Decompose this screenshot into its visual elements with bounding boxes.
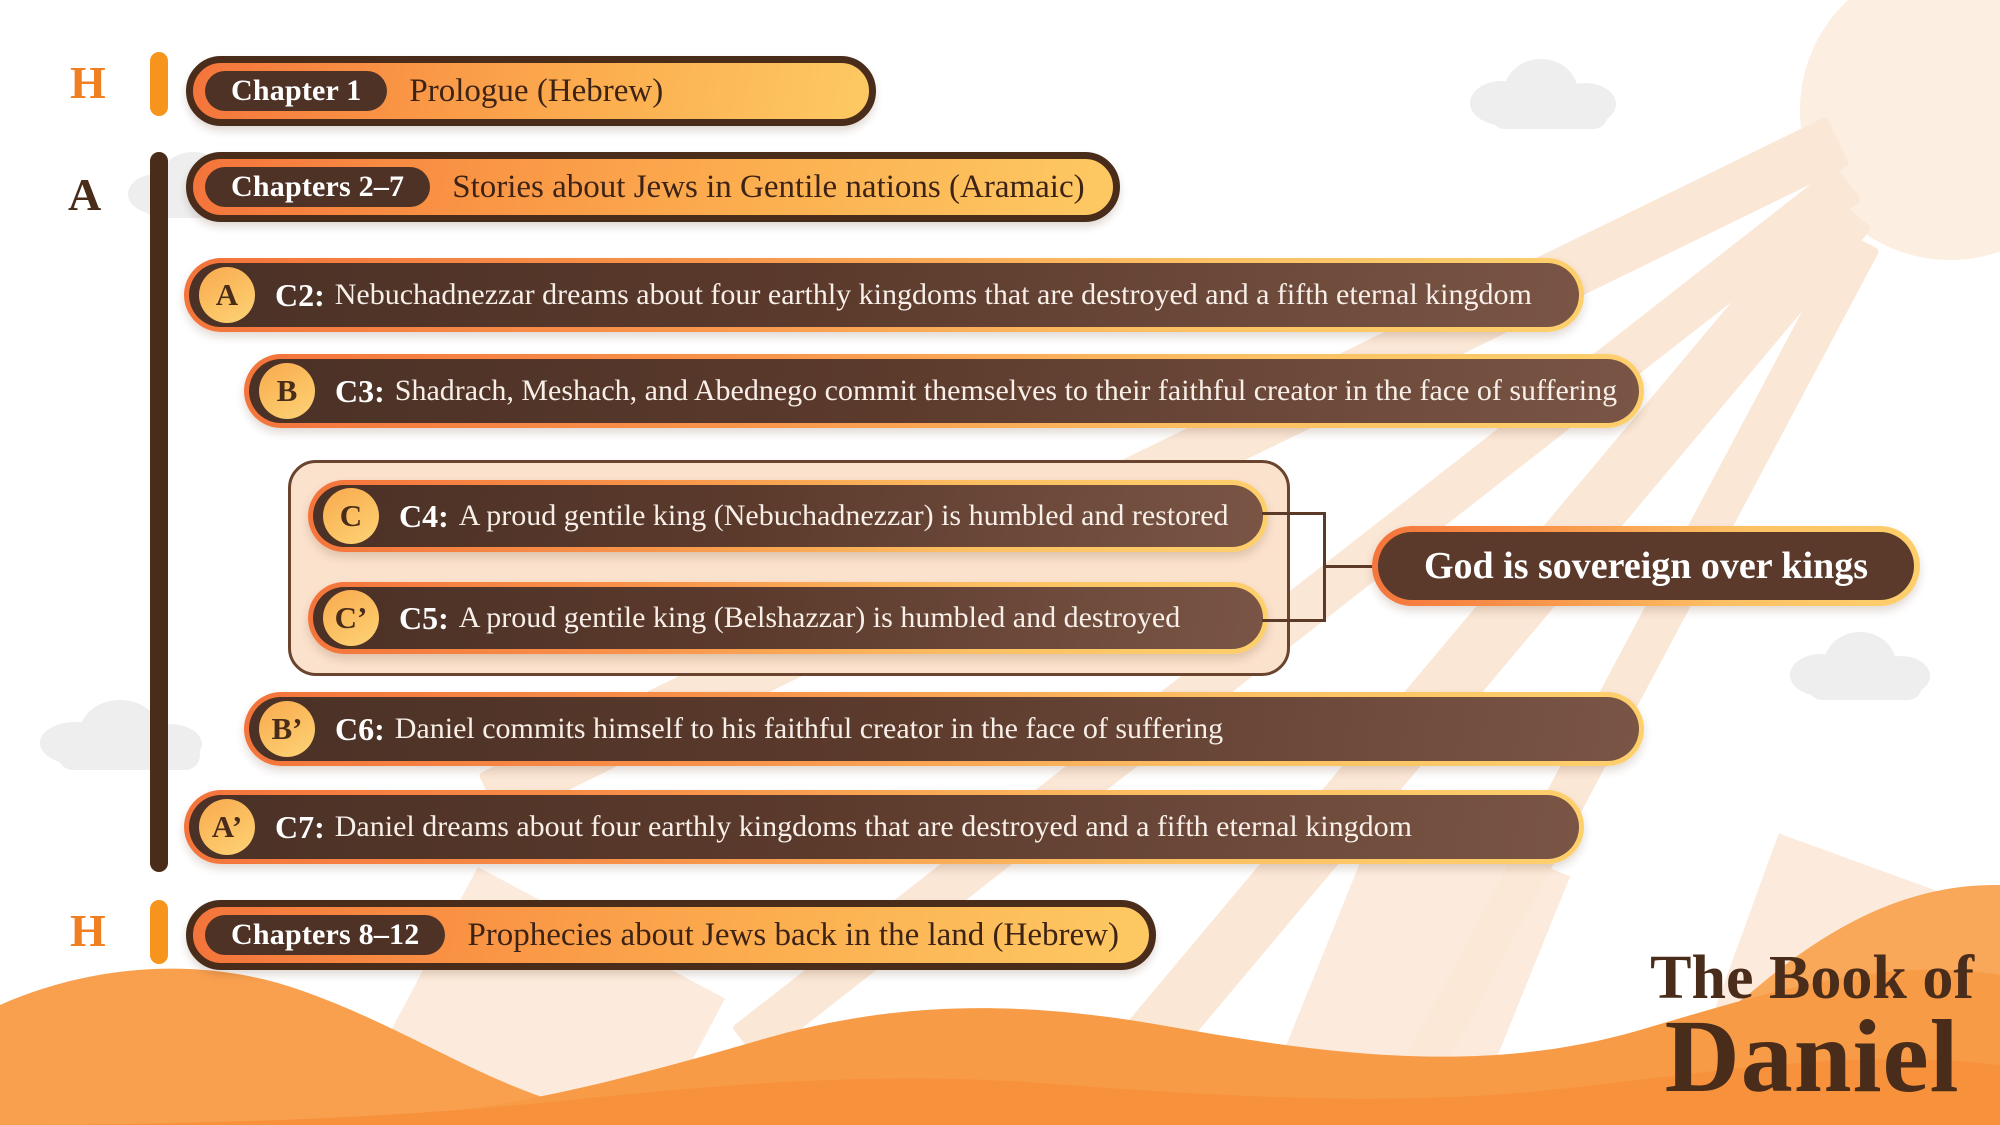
chiasm-pill[interactable]: A C2: Nebuchadnezzar dreams about four e… xyxy=(184,258,1584,332)
title-line-2: Daniel xyxy=(1650,1008,1974,1107)
bracket-top-arm xyxy=(1262,512,1326,515)
chiasm-badge: C xyxy=(323,488,379,544)
chiasm-ref: C7: xyxy=(275,809,325,846)
page-title: The Book of Daniel xyxy=(1650,949,1974,1107)
chiasm-desc: Shadrach, Meshach, and Abednego commit t… xyxy=(395,374,1617,408)
chiasm-badge: A’ xyxy=(199,799,255,855)
chiasm-badge: B xyxy=(259,363,315,419)
chiasm-pill[interactable]: B’ C6: Daniel commits himself to his fai… xyxy=(244,692,1644,766)
bracket-stem xyxy=(1323,565,1378,568)
chiasm-desc: A proud gentile king (Belshazzar) is hum… xyxy=(459,601,1180,635)
section-label: Prophecies about Jews back in the land (… xyxy=(467,917,1119,954)
chiasm-ref: C3: xyxy=(335,373,385,410)
section-label: Prologue (Hebrew) xyxy=(409,73,663,110)
section-row-chapters-2-7[interactable]: Chapters 2–7 Stories about Jews in Genti… xyxy=(186,152,1120,222)
section-pill[interactable]: Chapter 1 Prologue (Hebrew) xyxy=(186,56,876,126)
section-row-chapter-1[interactable]: Chapter 1 Prologue (Hebrew) xyxy=(186,56,876,126)
chiasm-pill[interactable]: C’ C5: A proud gentile king (Belshazzar)… xyxy=(308,582,1268,654)
chiasm-badge: A xyxy=(199,267,255,323)
chiasm-row-a-prime[interactable]: A’ C7: Daniel dreams about four earthly … xyxy=(184,790,1584,864)
chiasm-desc: Daniel dreams about four earthly kingdom… xyxy=(335,810,1412,844)
section-row-chapters-8-12[interactable]: Chapters 8–12 Prophecies about Jews back… xyxy=(186,900,1156,970)
chiasm-ref: C4: xyxy=(399,498,449,535)
chiasm-desc: A proud gentile king (Nebuchadnezzar) is… xyxy=(459,499,1229,533)
section-tag: Chapters 2–7 xyxy=(205,167,430,207)
chiasm-pill[interactable]: B C3: Shadrach, Meshach, and Abednego co… xyxy=(244,354,1644,428)
sun-icon xyxy=(1800,0,2000,260)
language-marker-hebrew-bottom: H xyxy=(70,908,107,954)
section-pill[interactable]: Chapters 8–12 Prophecies about Jews back… xyxy=(186,900,1156,970)
chiasm-row-b[interactable]: B C3: Shadrach, Meshach, and Abednego co… xyxy=(244,354,1644,428)
chiasm-row-a[interactable]: A C2: Nebuchadnezzar dreams about four e… xyxy=(184,258,1584,332)
chiasm-pill[interactable]: A’ C7: Daniel dreams about four earthly … xyxy=(184,790,1584,864)
infographic-canvas: H A H Chapter 1 Prologue (Hebrew) Chapte… xyxy=(0,0,2000,1125)
chiasm-row-b-prime[interactable]: B’ C6: Daniel commits himself to his fai… xyxy=(244,692,1644,766)
chiasm-row-c-prime[interactable]: C’ C5: A proud gentile king (Belshazzar)… xyxy=(308,582,1268,654)
chiasm-pill[interactable]: C C4: A proud gentile king (Nebuchadnezz… xyxy=(308,480,1268,552)
spine-bar-hebrew-bottom xyxy=(150,900,168,964)
chiasm-badge: C’ xyxy=(323,590,379,646)
theme-label: God is sovereign over kings xyxy=(1424,544,1868,588)
chiasm-badge: B’ xyxy=(259,701,315,757)
spine-bar-aramaic xyxy=(150,152,168,872)
section-pill[interactable]: Chapters 2–7 Stories about Jews in Genti… xyxy=(186,152,1120,222)
language-marker-hebrew-top: H xyxy=(70,60,107,106)
chiasm-ref: C6: xyxy=(335,711,385,748)
language-marker-aramaic: A xyxy=(68,172,102,218)
section-label: Stories about Jews in Gentile nations (A… xyxy=(452,169,1084,206)
section-tag: Chapters 8–12 xyxy=(205,915,445,955)
chiasm-ref: C2: xyxy=(275,277,325,314)
chiasm-desc: Nebuchadnezzar dreams about four earthly… xyxy=(335,278,1532,312)
section-tag: Chapter 1 xyxy=(205,71,387,111)
theme-pill[interactable]: God is sovereign over kings xyxy=(1372,526,1920,606)
chiasm-row-c[interactable]: C C4: A proud gentile king (Nebuchadnezz… xyxy=(308,480,1268,552)
theme-bracket xyxy=(1262,512,1378,622)
chiasm-ref: C5: xyxy=(399,600,449,637)
spine-bar-hebrew-top xyxy=(150,52,168,116)
chiasm-desc: Daniel commits himself to his faithful c… xyxy=(395,712,1223,746)
bracket-bottom-arm xyxy=(1262,619,1326,622)
